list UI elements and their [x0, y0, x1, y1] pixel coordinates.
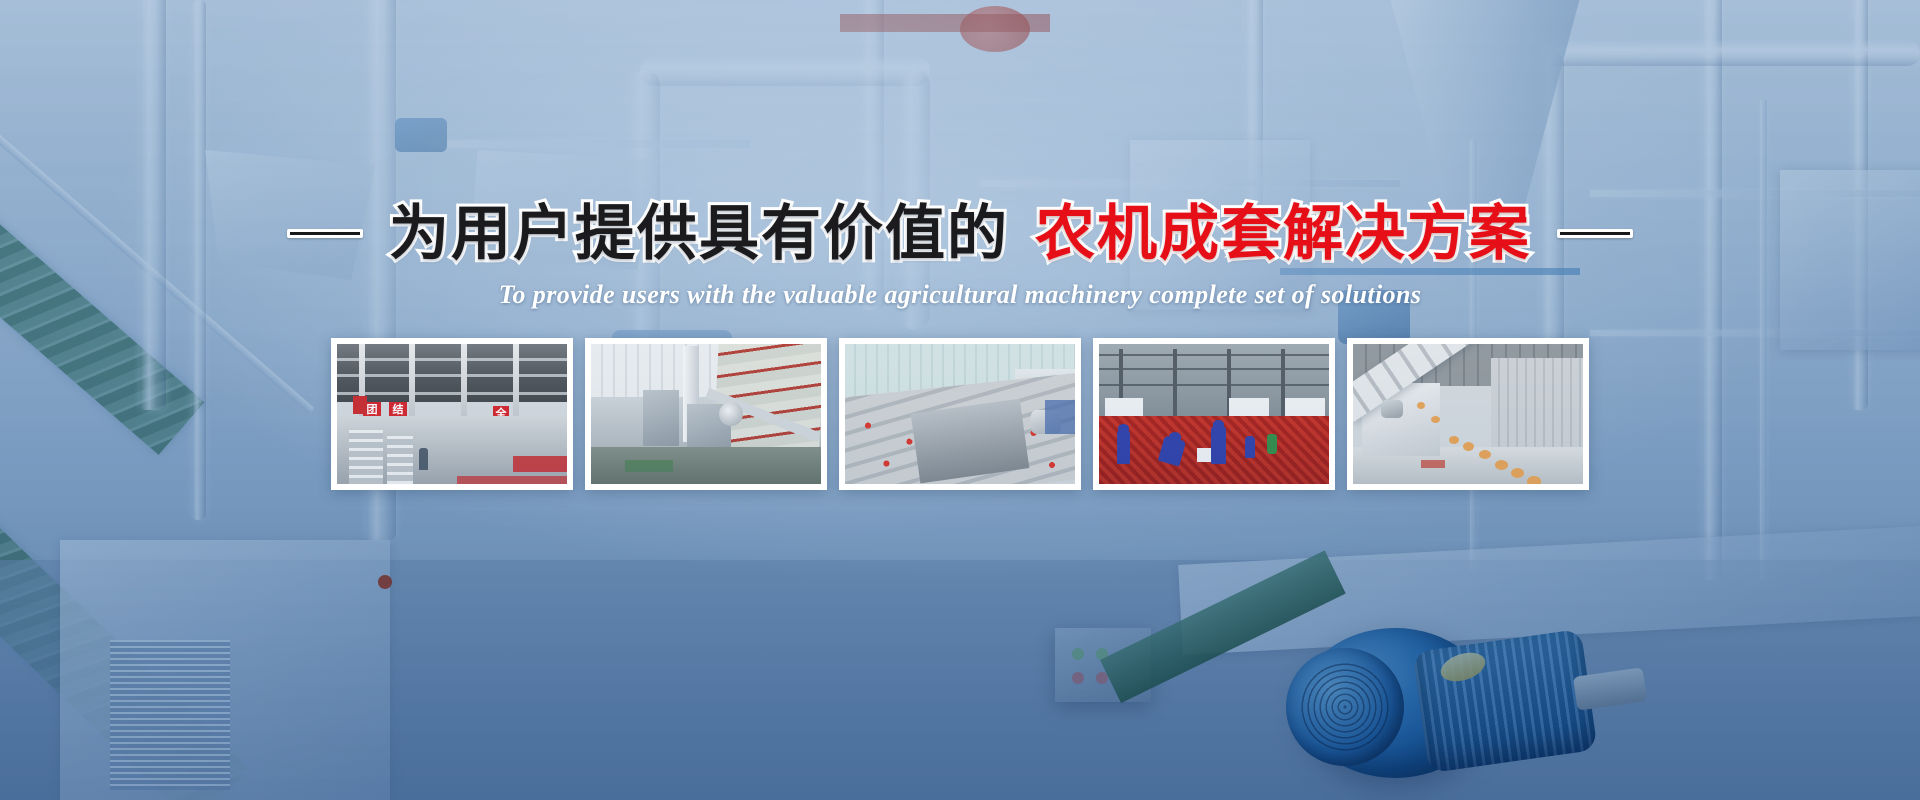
- t1-truss-2: [337, 374, 567, 377]
- t1-truss-1: [337, 358, 567, 361]
- t1-sign-jie: 结: [389, 402, 407, 418]
- thumbnail-chili-drying-yard[interactable]: [1093, 338, 1335, 490]
- thumbnail-factory-hall[interactable]: 团 结 全: [331, 338, 573, 490]
- t4-column-2: [1173, 349, 1177, 419]
- t4-window-2: [1229, 398, 1269, 416]
- t5-onion-1: [1449, 436, 1459, 444]
- t2-green-mat: [625, 460, 673, 472]
- t5-onion-8: [1417, 402, 1425, 409]
- t4-window-1: [1105, 398, 1143, 416]
- t3-blue-panel: [1045, 400, 1075, 434]
- thumbnail-drying-racks-image: [591, 344, 821, 484]
- t3-center-rail: [911, 398, 1030, 483]
- t4-worker-3: [1211, 426, 1226, 464]
- t4-worker-green: [1267, 434, 1277, 454]
- t1-truss-3: [337, 392, 567, 395]
- t1-red-panel-1: [353, 396, 367, 414]
- t1-red-produce: [513, 456, 567, 472]
- t4-worker-2-hat: [1169, 432, 1181, 441]
- thumbnail-factory-hall-image: 团 结 全: [337, 344, 567, 484]
- t5-onion-3: [1479, 450, 1491, 459]
- headline-right-rule-icon: [1557, 229, 1633, 238]
- t5-motor: [1381, 400, 1403, 418]
- banner-content: 为用户提供具有价值的农机成套解决方案 To provide users with…: [0, 0, 1920, 800]
- t1-red-crate: [457, 476, 567, 484]
- t5-onion-2: [1463, 442, 1474, 451]
- t4-worker-4: [1245, 436, 1255, 458]
- thumbnail-onion-elevator[interactable]: [1347, 338, 1589, 490]
- t1-worker: [419, 448, 428, 470]
- t5-onion-7: [1431, 416, 1440, 423]
- thumbnail-conveyor-line-image: [845, 344, 1075, 484]
- hero-banner: 为用户提供具有价值的农机成套解决方案 To provide users with…: [0, 0, 1920, 800]
- t5-onion-6: [1527, 476, 1541, 484]
- t4-bucket: [1197, 448, 1211, 462]
- t4-worker-3-hat: [1213, 420, 1224, 428]
- headline-subtitle: To provide users with the valuable agric…: [499, 280, 1422, 310]
- headline: 为用户提供具有价值的农机成套解决方案: [287, 202, 1633, 266]
- thumbnail-drying-racks[interactable]: [585, 338, 827, 490]
- t4-worker-1-hat: [1118, 424, 1129, 432]
- t5-onion-4: [1495, 460, 1508, 470]
- t4-window-3: [1285, 398, 1325, 416]
- thumbnail-strip: 团 结 全: [331, 338, 1589, 490]
- headline-accent-text: 农机成套解决方案: [1035, 202, 1531, 266]
- t2-machine-1: [643, 390, 679, 446]
- t4-truss-2: [1099, 368, 1329, 370]
- t1-rack-2: [387, 436, 413, 484]
- t4-truss-1: [1099, 354, 1329, 356]
- thumbnail-onion-elevator-image: [1353, 344, 1583, 484]
- thumbnail-conveyor-line[interactable]: [839, 338, 1081, 490]
- headline-left-rule-icon: [287, 229, 363, 238]
- t5-red-label: [1421, 460, 1445, 468]
- headline-primary-text: 为用户提供具有价值的: [389, 202, 1009, 266]
- t2-roller: [719, 402, 743, 426]
- thumbnail-chili-drying-yard-image: [1099, 344, 1329, 484]
- t4-worker-1: [1117, 430, 1130, 464]
- t4-truss-3: [1099, 384, 1329, 386]
- t1-rack-1: [349, 430, 383, 484]
- t5-onion-5: [1511, 468, 1524, 478]
